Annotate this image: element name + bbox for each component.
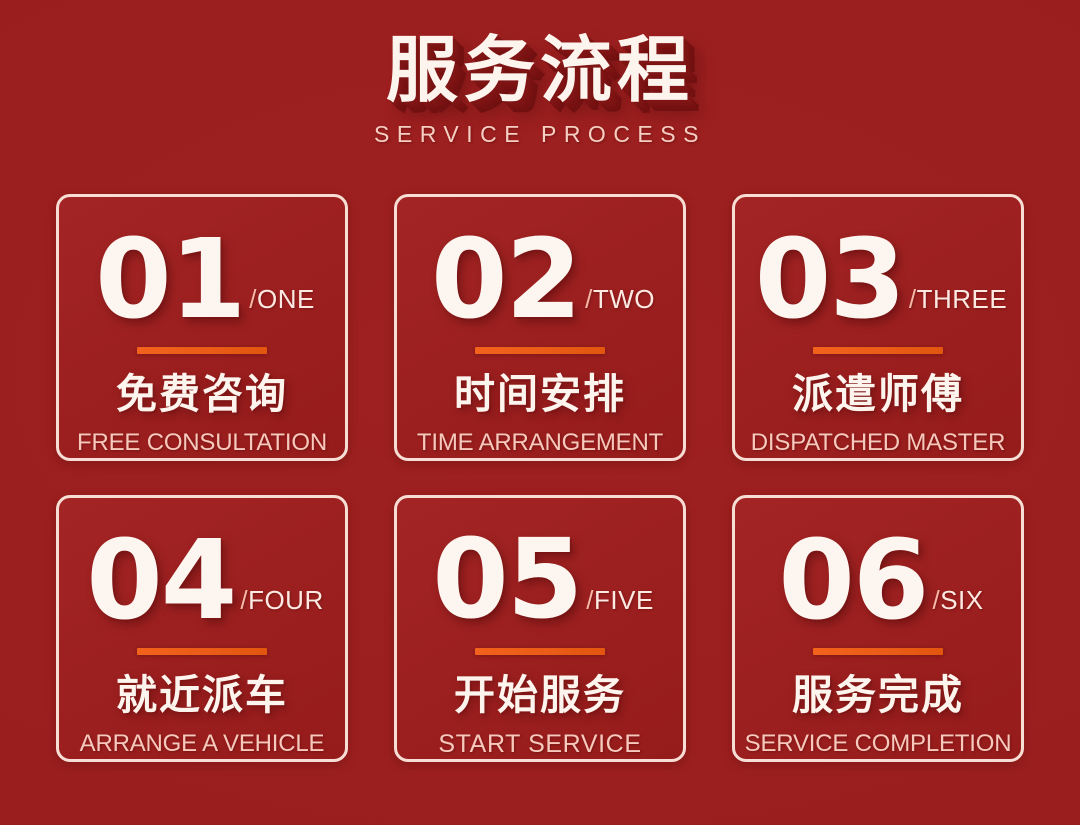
divider-rule bbox=[475, 347, 605, 354]
step-label-en: FREE CONSULTATION bbox=[77, 429, 327, 457]
step-label-en: TIME ARRANGEMENT bbox=[417, 429, 663, 457]
page-subtitle: SERVICE PROCESS bbox=[0, 121, 1080, 148]
step-card-05[interactable]: 05 /FIVE 开始服务 START SERVICE bbox=[394, 495, 686, 762]
step-label-cn: 免费咨询 bbox=[116, 372, 288, 417]
step-label-cn: 就近派车 bbox=[116, 673, 288, 718]
step-label-cn: 开始服务 bbox=[454, 673, 626, 718]
step-alpha-text: SIX bbox=[940, 585, 983, 615]
step-alpha-text: FIVE bbox=[594, 585, 654, 615]
step-number-alpha: /ONE bbox=[249, 284, 315, 331]
step-card-02[interactable]: 02 /TWO 时间安排 TIME ARRANGEMENT bbox=[394, 194, 686, 461]
step-label-cn: 派遣师傅 bbox=[792, 372, 964, 417]
step-card-06[interactable]: 06 /SIX 服务完成 SERVICE COMPLETION bbox=[732, 495, 1024, 762]
step-card-01[interactable]: 01 /ONE 免费咨询 FREE CONSULTATION bbox=[56, 194, 348, 461]
step-alpha-text: ONE bbox=[257, 284, 315, 314]
step-number: 01 bbox=[95, 227, 244, 332]
step-number: 05 bbox=[432, 527, 581, 632]
step-label-cn: 服务完成 bbox=[792, 673, 964, 718]
divider-rule bbox=[813, 648, 943, 655]
slash-glyph: / bbox=[249, 284, 257, 314]
step-number: 06 bbox=[778, 528, 927, 633]
step-card-04[interactable]: 04 /FOUR 就近派车 ARRANGE A VEHICLE bbox=[56, 495, 348, 762]
step-number-row: 03 /THREE bbox=[735, 205, 1021, 331]
slash-glyph: / bbox=[909, 284, 917, 314]
step-alpha-text: FOUR bbox=[248, 585, 324, 615]
divider-rule bbox=[137, 648, 267, 655]
step-number: 02 bbox=[431, 227, 580, 332]
step-label-en: DISPATCHED MASTER bbox=[751, 429, 1005, 457]
slash-glyph: / bbox=[586, 585, 594, 615]
step-label-en: START SERVICE bbox=[438, 730, 641, 759]
step-alpha-text: TWO bbox=[593, 284, 655, 314]
step-number: 03 bbox=[755, 227, 904, 332]
step-number-alpha: /THREE bbox=[909, 284, 1007, 331]
step-number-alpha: /FOUR bbox=[240, 585, 323, 632]
divider-rule bbox=[475, 648, 605, 655]
step-card-03[interactable]: 03 /THREE 派遣师傅 DISPATCHED MASTER bbox=[732, 194, 1024, 461]
step-number-alpha: /TWO bbox=[585, 284, 655, 331]
step-alpha-text: THREE bbox=[917, 284, 1008, 314]
slash-glyph: / bbox=[240, 585, 248, 615]
page-title: 服务流程 bbox=[386, 34, 694, 107]
step-number-row: 01 /ONE bbox=[59, 205, 345, 331]
step-number-row: 04 /FOUR bbox=[59, 506, 345, 632]
step-number-alpha: /FIVE bbox=[586, 585, 654, 632]
step-number-row: 02 /TWO bbox=[397, 205, 683, 331]
step-label-cn: 时间安排 bbox=[454, 372, 626, 417]
divider-rule bbox=[813, 347, 943, 354]
service-process-poster: 服务流程 SERVICE PROCESS 01 /ONE 免费咨询 FREE C… bbox=[0, 0, 1080, 825]
slash-glyph: / bbox=[585, 284, 593, 314]
step-label-en: ARRANGE A VEHICLE bbox=[80, 730, 325, 758]
step-number-row: 05 /FIVE bbox=[397, 506, 683, 632]
step-label-en: SERVICE COMPLETION bbox=[745, 730, 1012, 758]
steps-grid: 01 /ONE 免费咨询 FREE CONSULTATION 02 /TWO 时… bbox=[56, 194, 1024, 762]
poster-header: 服务流程 SERVICE PROCESS bbox=[0, 0, 1080, 148]
divider-rule bbox=[137, 347, 267, 354]
step-number-alpha: /SIX bbox=[932, 585, 983, 632]
step-number-row: 06 /SIX bbox=[735, 506, 1021, 632]
step-number: 04 bbox=[86, 528, 235, 633]
